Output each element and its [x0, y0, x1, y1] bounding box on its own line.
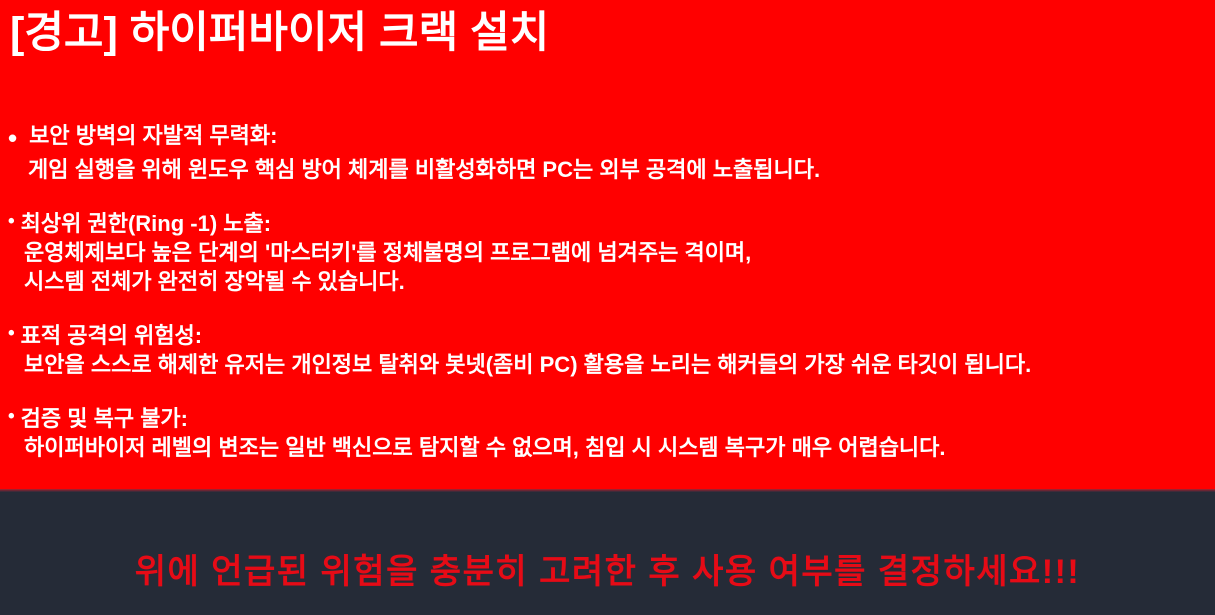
bullet-dot-icon: • — [0, 122, 29, 156]
bullet-body-line: 보안을 스스로 해제한 유저는 개인정보 탈취와 봇넷(좀비 PC) 활용을 노… — [0, 351, 1215, 380]
list-item: • 보안 방벽의 자발적 무력화: 게임 실행을 위해 윈도우 핵심 방어 체계… — [0, 122, 1215, 184]
warning-notice-page: [경고] 하이퍼바이저 크랙 설치 • 보안 방벽의 자발적 무력화: 게임 실… — [0, 0, 1215, 615]
risk-bullet-list: • 보안 방벽의 자발적 무력화: 게임 실행을 위해 윈도우 핵심 방어 체계… — [0, 122, 1215, 463]
footer-call-to-action: 위에 언급된 위험을 충분히 고려한 후 사용 여부를 결정하세요!!! — [135, 514, 1081, 593]
bullet-heading: 표적 공격의 위험성: — [21, 322, 202, 351]
footer-panel: 위에 언급된 위험을 충분히 고려한 후 사용 여부를 결정하세요!!! — [0, 492, 1215, 615]
bullet-heading: 보안 방벽의 자발적 무력화: — [29, 122, 277, 151]
bullet-heading-row: • 표적 공격의 위험성: — [0, 322, 1215, 351]
bullet-body-line: 하이퍼바이저 레벨의 변조는 일반 백신으로 탐지할 수 없으며, 침입 시 시… — [0, 434, 1215, 463]
list-item: • 최상위 권한(Ring -1) 노출: 운영체제보다 높은 단계의 '마스터… — [0, 210, 1215, 296]
warning-panel: [경고] 하이퍼바이저 크랙 설치 • 보안 방벽의 자발적 무력화: 게임 실… — [0, 0, 1215, 489]
page-title: [경고] 하이퍼바이저 크랙 설치 — [0, 0, 1215, 56]
bullet-heading-row: • 검증 및 복구 불가: — [0, 405, 1215, 434]
bullet-heading-row: • 최상위 권한(Ring -1) 노출: — [0, 210, 1215, 239]
list-item: • 검증 및 복구 불가: 하이퍼바이저 레벨의 변조는 일반 백신으로 탐지할… — [0, 405, 1215, 462]
bullet-heading-row: • 보안 방벽의 자발적 무력화: — [0, 122, 1215, 156]
bullet-dot-icon: • — [0, 405, 21, 430]
list-item: • 표적 공격의 위험성: 보안을 스스로 해제한 유저는 개인정보 탈취와 봇… — [0, 322, 1215, 379]
bullet-dot-icon: • — [0, 322, 21, 347]
bullet-body-line: 운영체제보다 높은 단계의 '마스터키'를 정체불명의 프로그램에 넘겨주는 격… — [0, 239, 1215, 268]
bullet-body-line: 게임 실행을 위해 윈도우 핵심 방어 체계를 비활성화하면 PC는 외부 공격… — [0, 156, 1215, 185]
bullet-heading: 검증 및 복구 불가: — [21, 405, 188, 434]
bullet-heading: 최상위 권한(Ring -1) 노출: — [21, 210, 271, 239]
bullet-dot-icon: • — [0, 210, 21, 235]
bullet-body-line: 시스템 전체가 완전히 장악될 수 있습니다. — [0, 268, 1215, 297]
